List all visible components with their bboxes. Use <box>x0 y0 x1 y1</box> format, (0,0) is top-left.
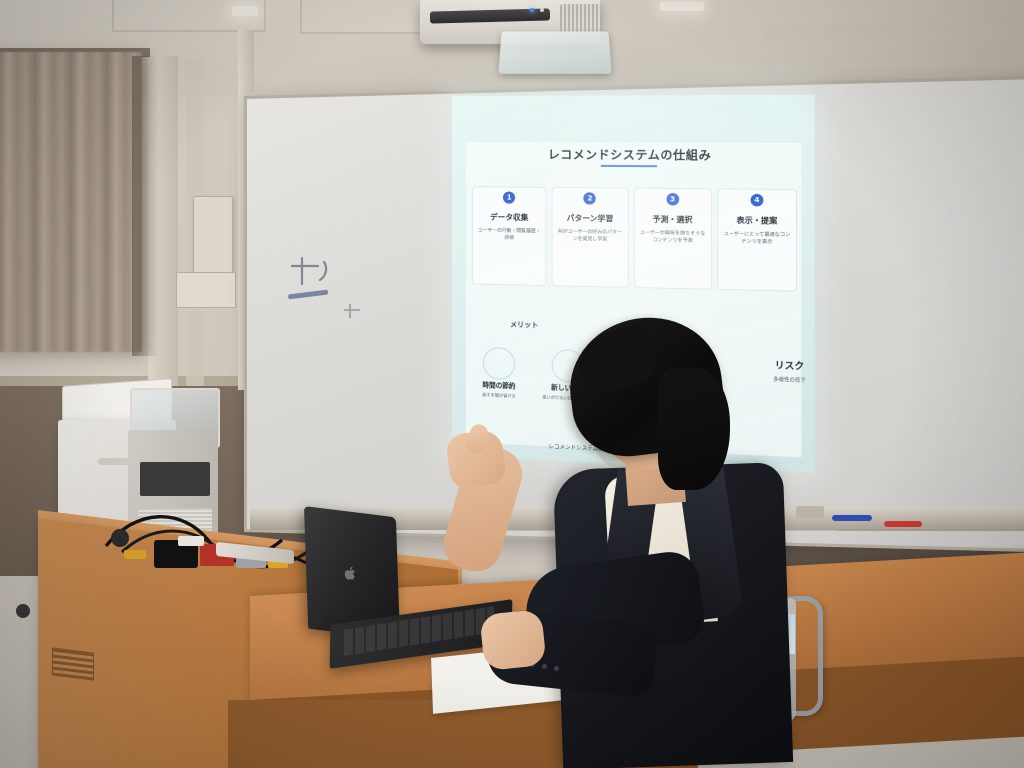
step-card-desc: AIがユーザーの好みのパターンを発見し学習 <box>553 228 627 244</box>
slide-title-underline <box>601 165 657 167</box>
step-card: 3 予測・選択 ユーザーが興味を持ちそうなコンテンツを予測 <box>634 188 712 290</box>
ceiling-trim-right <box>762 26 1024 38</box>
step-card: 4 表示・提案 ユーザーにとって最適なコンテンツを表示 <box>717 188 797 291</box>
ceiling-light <box>660 2 704 11</box>
step-number-badge: 1 <box>503 191 515 203</box>
apple-logo-icon <box>344 566 357 581</box>
red-marker[interactable] <box>884 521 922 527</box>
wall-control-panel[interactable] <box>193 196 233 276</box>
cabinet-handle[interactable] <box>98 458 132 465</box>
wall-outlet-panel[interactable] <box>176 272 236 308</box>
photo-scene: レコメンドシステムの仕組み 1 データ収集 ユーザーの行動・閲覧履歴・評価 2 … <box>0 0 1024 768</box>
step-card-desc: ユーザーが興味を持ちそうなコンテンツを予測 <box>635 230 711 246</box>
step-card-desc: ユーザーにとって最適なコンテンツを表示 <box>718 231 796 247</box>
cabinet-caster <box>16 604 30 618</box>
sleeve-button <box>542 664 547 669</box>
projector-power-led <box>530 8 534 12</box>
step-card-title: データ収集 <box>490 211 528 223</box>
step-card-desc: ユーザーの行動・閲覧履歴・評価 <box>473 227 546 243</box>
sleeve-button <box>554 666 559 671</box>
whiteboard-eraser[interactable] <box>796 506 824 518</box>
step-number-badge: 2 <box>584 192 596 204</box>
step-card-title: パターン学習 <box>567 212 614 224</box>
hair-back <box>658 368 730 490</box>
step-card: 1 データ収集 ユーザーの行動・閲覧履歴・評価 <box>472 186 547 286</box>
slide-step-cards: 1 データ収集 ユーザーの行動・閲覧履歴・評価 2 パターン学習 AIがユーザー… <box>472 186 797 291</box>
step-card: 2 パターン学習 AIがユーザーの好みのパターンを発見し学習 <box>552 187 628 288</box>
step-card-title: 予測・選択 <box>653 213 693 225</box>
blue-marker[interactable] <box>832 515 872 521</box>
window-curtain <box>0 52 142 352</box>
projector-lens-housing <box>498 31 611 73</box>
projector-vent <box>560 4 600 34</box>
cabinet-control-panel[interactable] <box>140 462 210 496</box>
step-card-title: 表示・提案 <box>736 214 777 226</box>
whiteboard-writing <box>286 252 406 322</box>
podium-vent <box>52 647 94 680</box>
resting-hand <box>479 609 547 671</box>
slide-title: レコメンドシステムの仕組み <box>452 146 814 164</box>
curtain-shadow <box>132 56 158 356</box>
step-number-badge: 3 <box>666 193 679 205</box>
step-number-badge: 4 <box>750 194 763 207</box>
ceiling-light <box>232 6 258 16</box>
projector-status-led <box>540 8 544 12</box>
seated-presenter <box>430 316 790 768</box>
